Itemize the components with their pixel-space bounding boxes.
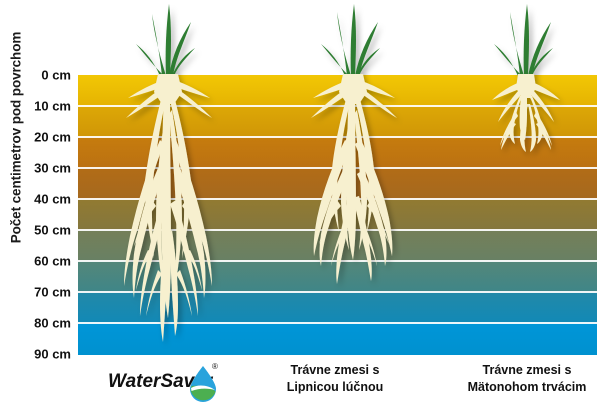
gridline-50cm [78,229,597,231]
grass-blades-3 [494,4,553,76]
soil-band-50-60 [78,230,597,261]
caption-series2-line1: Trávne zmesi s [265,362,405,379]
caption-series3-line1: Trávne zmesi s [452,362,600,379]
y-tick-50: 50 cm [1,223,71,238]
watersaver-logo: WaterSaver ® [108,360,226,402]
grass-blades-1 [136,4,195,76]
soil-band-40-50 [78,199,597,230]
gridline-20cm [78,136,597,138]
gridline-80cm [78,322,597,324]
y-tick-90: 90 cm [1,347,71,362]
soil-profile [78,75,597,355]
y-tick-60: 60 cm [1,254,71,269]
y-tick-10: 10 cm [1,99,71,114]
gridline-70cm [78,291,597,293]
gridline-30cm [78,167,597,169]
caption-series3-line2: Mätonohom trvácim [452,379,600,396]
soil-band-10-20 [78,106,597,137]
y-tick-40: 40 cm [1,192,71,207]
grass-blades-2 [321,4,380,76]
y-tick-70: 70 cm [1,285,71,300]
soil-band-70-80 [78,292,597,323]
caption-series3: Trávne zmesi s Mätonohom trvácim [452,362,600,395]
y-tick-20: 20 cm [1,130,71,145]
soil-band-20-30 [78,137,597,168]
y-axis-ticks: 0 cm 10 cm 20 cm 30 cm 40 cm 50 cm 60 cm… [0,0,76,405]
soil-band-30-40 [78,168,597,199]
caption-series2: Trávne zmesi s Lipnicou lúčnou [265,362,405,395]
y-tick-80: 80 cm [1,316,71,331]
soil-band-80-90 [78,323,597,355]
logo-registered-mark: ® [212,362,218,371]
y-tick-30: 30 cm [1,161,71,176]
soil-band-60-70 [78,261,597,292]
caption-series2-line2: Lipnicou lúčnou [265,379,405,396]
gridline-60cm [78,260,597,262]
gridline-40cm [78,198,597,200]
y-tick-0: 0 cm [1,68,71,83]
root-depth-chart: Počet centimetrov pod povrchom 0 cm 10 c… [0,0,600,405]
soil-band-0-10 [78,75,597,106]
gridline-10cm [78,105,597,107]
